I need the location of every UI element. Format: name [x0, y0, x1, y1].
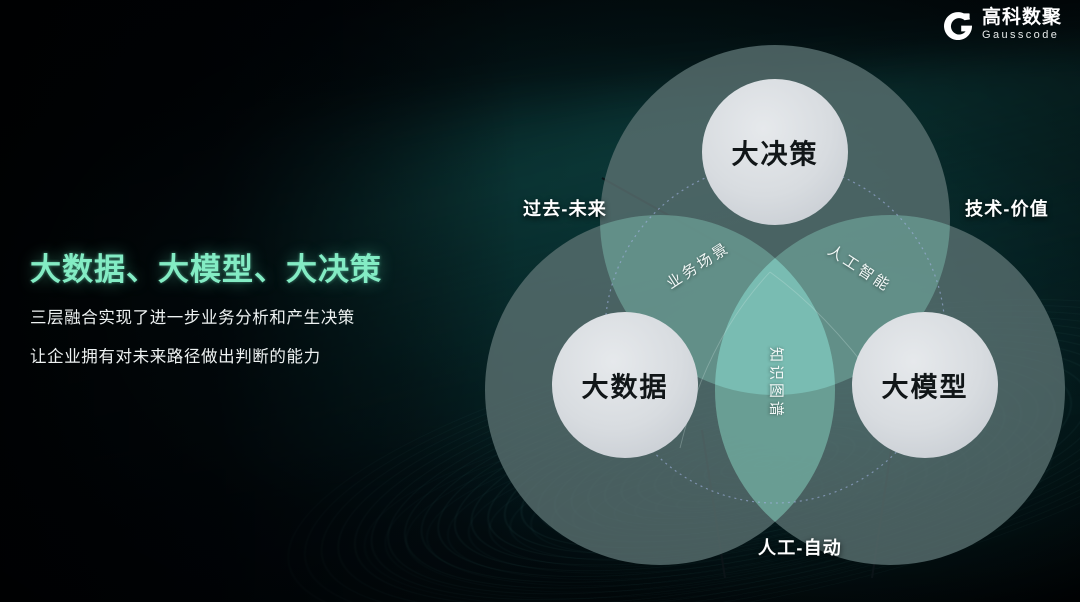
- axis-label-tech-value: 技术-价值: [965, 195, 1049, 221]
- brand-logo-text: 高科数聚 Gausscode: [982, 8, 1062, 41]
- copy-block: 大数据、大模型、大决策 三层融合实现了进一步业务分析和产生决策 让企业拥有对未来…: [30, 252, 460, 366]
- node-label-bigdata: 大数据: [582, 366, 669, 405]
- node-label-bigmodel: 大模型: [882, 366, 969, 405]
- brand-logo: 高科数聚 Gausscode: [943, 8, 1062, 41]
- axis-label-past-future: 过去-未来: [523, 195, 607, 221]
- brand-name-cn: 高科数聚: [982, 8, 1062, 27]
- axis-label-manual-auto: 人工-自动: [758, 534, 842, 560]
- subtitle-line-1: 三层融合实现了进一步业务分析和产生决策: [30, 309, 460, 327]
- overlap-label-knowledge-graph: 知识图谱: [767, 347, 788, 419]
- page-title: 大数据、大模型、大决策: [30, 252, 460, 288]
- gausscode-ring-icon: [943, 10, 973, 40]
- venn-diagram: 大决策 大数据 大模型 业务场景 人工智能 知识图谱 过去-未来 技术-价值 人…: [470, 0, 1080, 602]
- slide-canvas: 高科数聚 Gausscode 大数据、大模型、大决策 三层融合实现了进一步业务分…: [0, 0, 1080, 602]
- brand-name-en: Gausscode: [982, 30, 1062, 41]
- subtitle-line-2: 让企业拥有对未来路径做出判断的能力: [30, 348, 460, 366]
- node-label-decision: 大决策: [732, 133, 819, 172]
